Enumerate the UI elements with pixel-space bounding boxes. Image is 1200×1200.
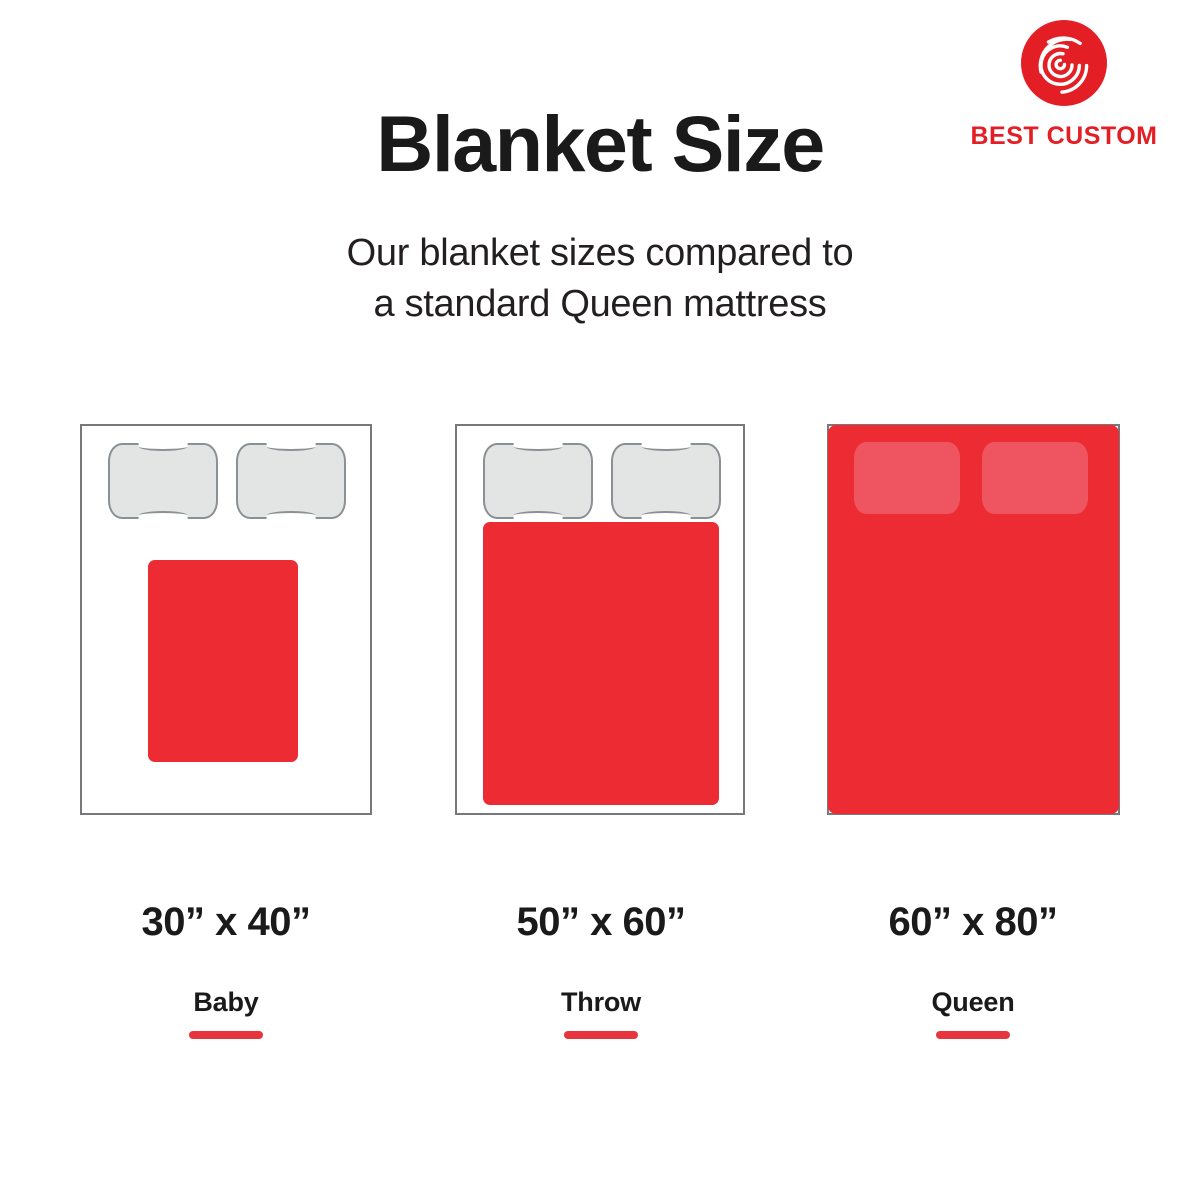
pillow-right-icon xyxy=(236,443,346,519)
pillow-right-icon xyxy=(611,443,721,519)
size-caption-throw: 50” x 60” Throw xyxy=(431,900,771,1039)
subtitle-line-1: Our blanket sizes compared to xyxy=(0,228,1200,279)
blanket-queen xyxy=(828,425,1119,814)
pillow-left-icon xyxy=(483,443,593,519)
page-subtitle: Our blanket sizes compared to a standard… xyxy=(0,228,1200,331)
accent-underline xyxy=(564,1031,638,1039)
size-dimensions: 30” x 40” xyxy=(56,900,396,944)
bed-comparison-diagrams xyxy=(0,424,1200,816)
size-caption-baby: 30” x 40” Baby xyxy=(56,900,396,1039)
size-name: Queen xyxy=(803,988,1143,1018)
size-captions: 30” x 40” Baby 50” x 60” Throw 60” x 80”… xyxy=(0,900,1200,1050)
bed-diagram-throw xyxy=(455,424,745,815)
pillow-left-icon xyxy=(108,443,218,519)
blanket-throw xyxy=(483,522,719,805)
bed-diagram-baby xyxy=(80,424,372,815)
page-title: Blanket Size xyxy=(0,104,1200,183)
size-name: Throw xyxy=(431,988,771,1018)
accent-underline xyxy=(189,1031,263,1039)
pillow-right-icon xyxy=(982,442,1088,514)
pillow-left-icon xyxy=(854,442,960,514)
bed-diagram-queen xyxy=(827,424,1120,815)
accent-underline xyxy=(936,1031,1010,1039)
fingerprint-icon xyxy=(1021,20,1107,106)
size-caption-queen: 60” x 80” Queen xyxy=(803,900,1143,1039)
size-name: Baby xyxy=(56,988,396,1018)
size-dimensions: 60” x 80” xyxy=(803,900,1143,944)
subtitle-line-2: a standard Queen mattress xyxy=(0,279,1200,330)
size-dimensions: 50” x 60” xyxy=(431,900,771,944)
blanket-baby xyxy=(148,560,298,762)
